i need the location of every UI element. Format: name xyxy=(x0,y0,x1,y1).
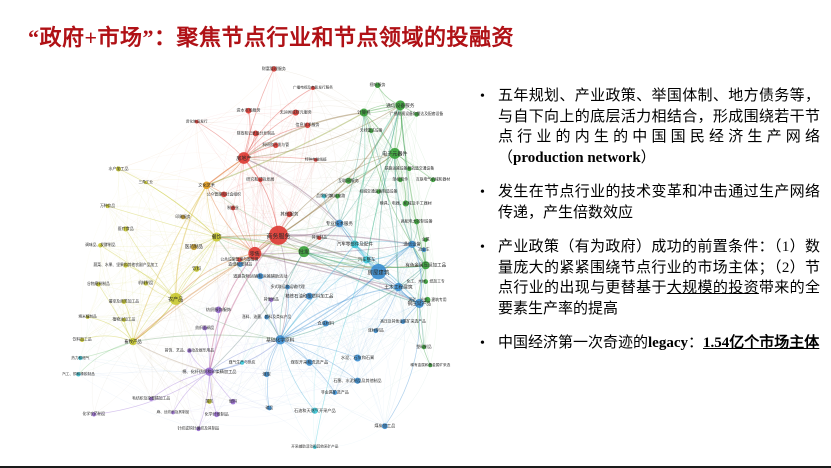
graph-node-label: 碳品 xyxy=(266,405,274,410)
graph-node-label: 汽车零部件及配件 xyxy=(337,241,374,248)
text-segment: 中国经济第一次奇迹的 xyxy=(498,335,648,351)
graph-node-label: 谷物磨粉制品 xyxy=(87,281,110,286)
graph-node-label: 批发 xyxy=(299,248,310,256)
graph-node-label: 研究和试验发展 xyxy=(246,176,274,182)
text-segment: legacy xyxy=(648,335,688,351)
graph-node-label: 三角工业 xyxy=(138,179,153,184)
bullet-2-text: 发生在节点行业的技术变革和冲击通过生产网络传递，产生倍数效应 xyxy=(498,182,820,223)
graph-node-label: 有色金属压延加工品 xyxy=(405,262,446,269)
graph-node-label: 煤炭开采和洗选产品 xyxy=(291,359,329,365)
graph-node-label: 屠宰及肉类加工品 xyxy=(109,298,140,303)
slide-root: “政府+市场”：聚焦节点行业和节点领域的投融资 财富管理服务广播电视及电影发行服… xyxy=(0,0,831,468)
graph-node-label: 煤气生产与供应 xyxy=(229,359,256,364)
network-graph-svg: 财富管理服务广播电视及电影发行服务资本市场服务无辿闻成财元服务信息技术服务财政和… xyxy=(48,58,458,458)
graph-node-label: 道路货物运输和运输辅助活动 xyxy=(233,272,287,278)
text-segment: production network xyxy=(513,150,641,166)
bullet-list: •五年规划、产业政策、举国体制、地方债务等，与自下向上的底层活力相结合，形成围绕… xyxy=(480,86,820,368)
graph-node-label: 电子元器件 xyxy=(382,150,407,157)
graph-node-label: 模具、电器、机械及手工器材 xyxy=(380,200,432,206)
bullet-1-text: 五年规划、产业政策、举国体制、地方债务等，与自下向上的底层活力相结合，形成围绕若… xyxy=(498,86,820,168)
graph-node-label: 涨材制品 xyxy=(368,327,384,333)
graph-node-label: 天线雷达设备 xyxy=(360,128,383,133)
graph-node-label: 医疗食品 xyxy=(118,225,134,231)
graph-node-label: 涨料、油墨、颜料及类似产品 xyxy=(242,314,292,319)
graph-node-label: 汽工、铜和橡胶制品 xyxy=(62,371,95,376)
graph-node-label: 高压及其他金属矿采选产品 xyxy=(380,318,426,323)
graph-node-label: 饮料 xyxy=(192,265,201,272)
graph-node-label: 纺织服饰服饰 xyxy=(206,306,231,312)
graph-node-label: 无辿闻成财元服务 xyxy=(280,109,312,115)
graph-node-label: 广播电视及电影发行服务 xyxy=(293,85,333,90)
graph-node-label: 万种饮品 xyxy=(100,203,115,208)
graph-node-label: 针织或钩针编织及其制品 xyxy=(178,426,220,431)
graph-node-label: 蔬菜、水果、坚果和其他农副产品加工 xyxy=(93,262,158,267)
text-segment: 发生在节点行业的技术变革和冲击通过生产网络传递，产生倍数效应 xyxy=(498,184,820,221)
graph-node-label: 调味品、发酵制品 xyxy=(85,242,116,247)
graph-node-label: 汽车整车 xyxy=(358,256,376,263)
graph-node-label: 麻、丝纺织及其制品 xyxy=(157,409,190,414)
graph-node-label: 医药制品 xyxy=(185,243,204,250)
graph-node-label: 燃料 xyxy=(229,398,237,404)
graph-node-label: 开采辅助活动和其他采矿产品 xyxy=(291,444,338,449)
graph-node-label: 财政和记录量分发制品 xyxy=(237,130,275,135)
graph-node-label: 特种电磁线缆 xyxy=(305,156,327,161)
graph-node-label: 稀有金属和贵金属矿采选 xyxy=(410,362,450,367)
text-segment: 1.54亿个市场主体 xyxy=(703,335,819,351)
graph-node-label: 其他地品 xyxy=(264,297,279,302)
bullet-4: •中国经济第一次奇迹的legacy：1.54亿个市场主体 xyxy=(480,333,820,354)
graph-node-label: 石油和天然气开采产品 xyxy=(294,407,336,413)
graph-node-label: 农产品 xyxy=(168,296,183,303)
graph-node-label: 机械制品 xyxy=(138,280,153,285)
graph-node-label: 非金属矿选产品 xyxy=(321,388,349,394)
graph-node-label: 煤炭 xyxy=(262,370,270,376)
network-graph: 财富管理服务广播电视及电影发行服务资本市场服务无辿闻成财元服务信息技术服务财政和… xyxy=(48,58,458,458)
graph-node-label: 其他制品 xyxy=(312,235,327,240)
bullet-3: •产业政策（有为政府）成功的前置条件：（1）数量庞大的紧紧围绕节点行业的市场主体… xyxy=(480,237,820,319)
graph-node-label: 棉、化纤纺织和印染精加工品 xyxy=(182,368,236,374)
graph-node-label: 冶金车 xyxy=(418,247,430,252)
bullet-2: •发生在节点行业的技术变革和冲击通过生产网络传递，产生倍数效应 xyxy=(480,182,820,223)
graph-node-label: 专业技术服务 xyxy=(326,220,354,227)
graph-node-label: 公共设施管理与整管理 xyxy=(220,257,258,262)
bullet-3-text: 产业政策（有为政府）成功的前置条件：（1）数量庞大的紧紧围绕节点行业的市场主体；… xyxy=(498,237,820,319)
graph-node-label: 计算机 xyxy=(357,109,371,116)
text-segment: ） xyxy=(641,150,656,166)
graph-node-label: 资化映品发行 xyxy=(186,118,208,123)
graph-node-label: 信息技术服务 xyxy=(296,121,320,127)
graph-node-label: 机械交通设备制造设备 xyxy=(359,188,397,193)
bullet-4-text: 中国经济第一次奇迹的legacy：1.54亿个市场主体 xyxy=(498,333,820,354)
graph-node-label: 水泥、石灰和石膏 xyxy=(341,354,374,360)
graph-node-label: 房屋建筑 xyxy=(368,268,390,276)
graph-node-label: 公众管理和社会组织 xyxy=(207,191,241,196)
graph-node-label: 科研和开发与管 xyxy=(262,142,289,147)
graph-node-label: 零售 xyxy=(250,250,261,258)
graph-node-label: 集成电路 xyxy=(330,193,345,198)
graph-node-label: 印刷服务 xyxy=(175,214,190,219)
graph-node-label: 房地产 xyxy=(236,155,251,162)
graph-node-label: 精米糖制品 xyxy=(78,314,96,319)
graph-node-label: 热力和燃气 xyxy=(71,355,89,360)
graph-node-label: 精炼石油和核燃料加工品 xyxy=(285,292,334,299)
graph-node-label: 合成材料 xyxy=(317,320,335,326)
bullet-marker: • xyxy=(480,86,498,107)
bullet-1: •五年规划、产业政策、举国体制、地方债务等，与自下向上的底层活力相结合，形成围绕… xyxy=(480,86,820,168)
text-segment: ： xyxy=(688,335,703,351)
graph-node-label: 毛纺织及染整精加工品 xyxy=(132,396,170,401)
graph-node-label: 纺织面绸品 xyxy=(195,325,214,330)
graph-node-label: 畜牧产品 xyxy=(124,338,142,345)
page-title: “政府+市场”：聚焦节点行业和节点领域的投融资 xyxy=(28,20,808,52)
graph-node-label: 化工、木材、纸加工专 xyxy=(407,278,445,283)
bullet-marker: • xyxy=(480,182,498,203)
graph-node-label: 金属 xyxy=(422,237,430,242)
graph-node-label: 化学农药制品 xyxy=(83,411,106,416)
graph-node-label: 商务服务 xyxy=(266,233,290,241)
graph-node-label: 植物油加工品 xyxy=(113,317,136,322)
graph-node-label: 国防 xyxy=(206,398,214,403)
bullet-marker: • xyxy=(480,333,498,354)
graph-node-label: 通信设备 xyxy=(403,241,421,248)
graph-node-label: 塑料制品 xyxy=(416,344,431,349)
graph-node-label: 互联电气机械和器材 xyxy=(416,177,450,182)
graph-node-label: 煤炭加工品 xyxy=(374,422,395,428)
graph-node-label: 广播电视设备和雷达及配套设备 xyxy=(390,111,443,116)
graph-node-label: 高配电力控制设备 xyxy=(401,218,433,224)
graph-node-label: 文化艺术 xyxy=(198,182,215,188)
graph-node-label: 石膨、水泥制品及其他制品 xyxy=(334,377,382,383)
bullet-marker: • xyxy=(480,237,498,258)
graph-node-label: 单机软件 xyxy=(392,176,408,182)
graph-node-label: 饮料加工品 xyxy=(73,337,92,342)
graph-node-label: 采矿、冶金、建筑专用 xyxy=(409,297,447,302)
graph-node-label: 资本市场服务 xyxy=(236,107,260,113)
graph-node-label: 多式联运和运输代理 xyxy=(270,284,304,289)
graph-node-label: 其他服务 xyxy=(280,210,299,217)
graph-node-label: 水产加工品 xyxy=(108,165,128,171)
graph-node-label: 财富管理服务 xyxy=(262,65,286,71)
graph-node-label: 视听服务 xyxy=(370,81,386,87)
graph-node-label: 化学纤维制品 xyxy=(205,410,229,416)
graph-node-label: 铁路运输设备和轨道交通设备 xyxy=(385,166,435,171)
graph-node-label: 互联网服务 xyxy=(338,177,359,183)
graph-node-label: 制造业 xyxy=(227,205,239,210)
text-segment: 大规模的投资 xyxy=(667,280,759,296)
graph-node-label: 首饰、艺品、运动及娱乐用品 xyxy=(165,347,215,352)
